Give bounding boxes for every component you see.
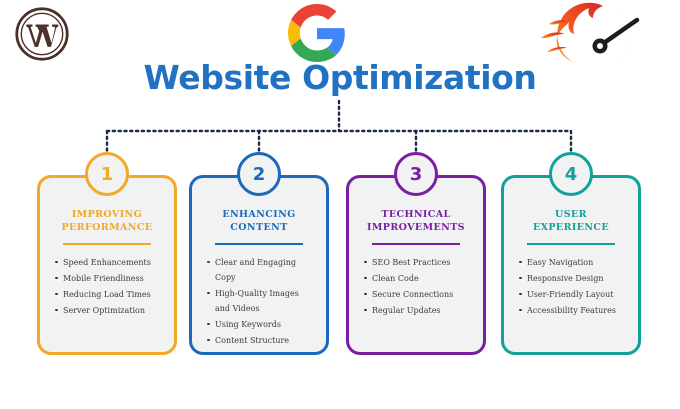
card-heading: ENHANCING CONTENT (201, 208, 317, 234)
card-improving-performance[interactable]: IMPROVING PERFORMANCE Speed Enhancements… (37, 152, 177, 357)
list-item: User-Friendly Layout (527, 287, 627, 302)
card-number-badge: 3 (394, 152, 438, 196)
google-logo (288, 4, 346, 62)
cards-row: IMPROVING PERFORMANCE Speed Enhancements… (0, 152, 680, 362)
card-user-experience[interactable]: USER EXPERIENCE Easy Navigation Responsi… (501, 152, 641, 357)
card-number-badge: 1 (85, 152, 129, 196)
card-divider (63, 243, 151, 245)
list-item: Clear and Engaging Copy (215, 255, 315, 285)
list-item: Mobile Friendliness (63, 271, 163, 286)
card-body: USER EXPERIENCE Easy Navigation Responsi… (501, 175, 641, 355)
list-item: Accessibility Features (527, 303, 627, 318)
card-technical-improvements[interactable]: TECHNICAL IMPROVEMENTS SEO Best Practice… (346, 152, 486, 357)
list-item: Clean Code (372, 271, 472, 286)
list-item: Server Optimization (63, 303, 163, 318)
card-heading: TECHNICAL IMPROVEMENTS (358, 208, 474, 234)
card-enhancing-content[interactable]: ENHANCING CONTENT Clear and Engaging Cop… (189, 152, 329, 357)
card-bullet-list: Speed Enhancements Mobile Friendliness R… (49, 255, 165, 318)
card-number-badge: 2 (237, 152, 281, 196)
infographic-canvas: Website Optimization IMPROVING PERFORMAN… (0, 0, 680, 409)
wordpress-logo (14, 6, 70, 62)
list-item: Using Keywords (215, 317, 315, 332)
list-item: High-Quality Images and Videos (215, 286, 315, 316)
list-item: Easy Navigation (527, 255, 627, 270)
list-item: Responsive Design (527, 271, 627, 286)
card-divider (372, 243, 460, 245)
list-item: Reducing Load Times (63, 287, 163, 302)
card-heading: USER EXPERIENCE (513, 208, 629, 234)
card-body: IMPROVING PERFORMANCE Speed Enhancements… (37, 175, 177, 355)
card-bullet-list: SEO Best Practices Clean Code Secure Con… (358, 255, 474, 318)
card-number-badge: 4 (549, 152, 593, 196)
list-item: Regular Updates (372, 303, 472, 318)
list-item: Secure Connections (372, 287, 472, 302)
list-item: Speed Enhancements (63, 255, 163, 270)
card-bullet-list: Clear and Engaging Copy High-Quality Ima… (201, 255, 317, 348)
page-title: Website Optimization (0, 58, 680, 97)
card-bullet-list: Easy Navigation Responsive Design User-F… (513, 255, 629, 318)
list-item: SEO Best Practices (372, 255, 472, 270)
card-body: TECHNICAL IMPROVEMENTS SEO Best Practice… (346, 175, 486, 355)
card-divider (527, 243, 615, 245)
card-body: ENHANCING CONTENT Clear and Engaging Cop… (189, 175, 329, 355)
card-heading: IMPROVING PERFORMANCE (49, 208, 165, 234)
list-item: Content Structure (215, 333, 315, 348)
card-divider (215, 243, 303, 245)
